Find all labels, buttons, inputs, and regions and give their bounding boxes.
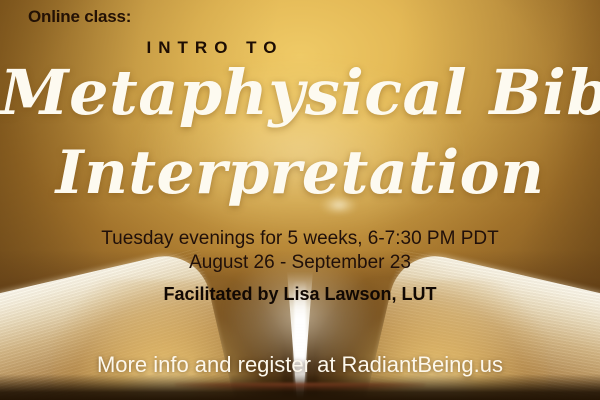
schedule-line-1: Tuesday evenings for 5 weeks, 6-7:30 PM … xyxy=(0,228,600,250)
kicker-label: Online class: xyxy=(28,7,131,27)
title-line-1: Metaphysical Bible xyxy=(0,62,600,124)
title-line-2: Interpretation xyxy=(0,143,600,203)
call-to-action-label: More info and register at RadiantBeing.u… xyxy=(0,352,600,378)
eyebrow-label: INTRO TO xyxy=(0,38,600,58)
class-promo-poster: Online class: INTRO TO Metaphysical Bibl… xyxy=(0,0,600,400)
poster-text-layer: Online class: INTRO TO Metaphysical Bibl… xyxy=(0,0,600,400)
facilitator-label: Facilitated by Lisa Lawson, LUT xyxy=(0,284,600,305)
schedule-line-2: August 26 - September 23 xyxy=(0,252,600,274)
